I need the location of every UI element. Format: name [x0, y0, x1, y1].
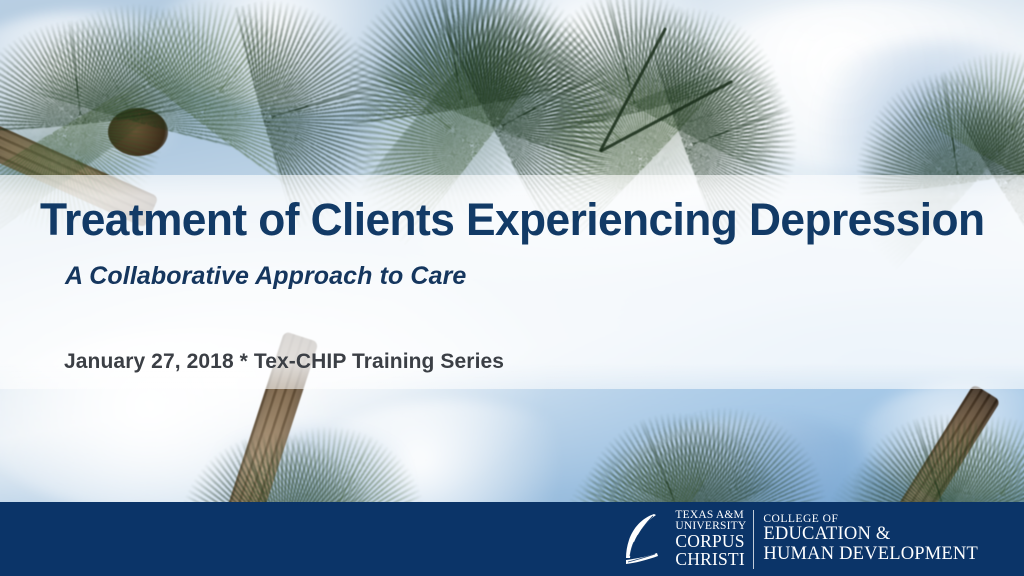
university-line-3: CORPUS	[675, 533, 746, 551]
college-line-2: EDUCATION &	[763, 525, 978, 545]
college-line-3: HUMAN DEVELOPMENT	[763, 545, 978, 565]
page-subtitle: A Collaborative Approach to Care	[65, 262, 466, 291]
page-title: Treatment of Clients Experiencing Depres…	[40, 196, 995, 245]
dateline-text: January 27, 2018 * Tex-CHIP Training Ser…	[64, 350, 504, 374]
island-wing-icon	[624, 512, 668, 566]
university-wordmark: TEXAS A&M UNIVERSITY CORPUS CHRISTI	[675, 510, 754, 569]
title-slide: Treatment of Clients Experiencing Depres…	[0, 0, 1024, 576]
university-line-4: CHRISTI	[675, 551, 746, 569]
college-wordmark: COLLEGE OF EDUCATION & HUMAN DEVELOPMENT	[761, 513, 978, 564]
institution-logo: TEXAS A&M UNIVERSITY CORPUS CHRISTI COLL…	[624, 508, 978, 570]
